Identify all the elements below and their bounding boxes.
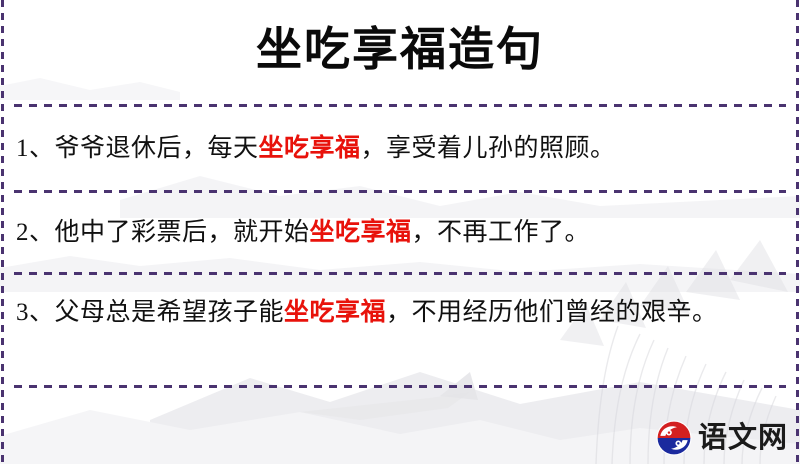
title-block: 坐吃享福造句 [0, 22, 800, 77]
sentence-3-keyword: 坐吃享福 [284, 299, 386, 326]
sentence-1-text-before: 爷爷退休后，每天 [55, 135, 259, 162]
document-page: 坐吃享福造句 1、爷爷退休后，每天坐吃享福，享受着儿孙的照顾。 2、他中了彩票后… [0, 0, 800, 464]
sentence-1-index: 1、 [16, 135, 55, 162]
sentence-row-1: 1、爷爷退休后，每天坐吃享福，享受着儿孙的照顾。 [16, 128, 780, 170]
site-logo-text: 语文网 [698, 424, 788, 453]
sentence-row-2: 2、他中了彩票后，就开始坐吃享福，不再工作了。 [16, 212, 780, 254]
site-logo[interactable]: 语文网 [656, 420, 788, 456]
page-border-left-dashed [1, 0, 4, 464]
page-border-right-dashed [796, 0, 799, 464]
separator-below-sentence-3 [14, 385, 786, 388]
separator-above-sentence-3 [14, 272, 786, 275]
sentence-2-text-after: ，不再工作了。 [412, 219, 591, 246]
separator-above-sentence-2 [14, 190, 786, 193]
sentence-3-index: 3、 [16, 299, 55, 326]
sentence-2-index: 2、 [16, 219, 55, 246]
sentence-3-text-after: ，不用经历他们曾经的艰辛。 [386, 299, 718, 326]
page-title: 坐吃享福造句 [0, 22, 800, 77]
separator-above-sentence-1 [14, 104, 786, 107]
sentence-2-keyword: 坐吃享福 [310, 219, 412, 246]
sentence-1-text-after: ，享受着儿孙的照顾。 [361, 135, 616, 162]
sentence-row-3: 3、父母总是希望孩子能坐吃享福，不用经历他们曾经的艰辛。 [16, 292, 780, 334]
sentence-2-text-before: 他中了彩票后，就开始 [55, 219, 310, 246]
sentence-1-keyword: 坐吃享福 [259, 135, 361, 162]
sentence-3-text-before: 父母总是希望孩子能 [55, 299, 285, 326]
yuwen-circular-logo-icon [656, 420, 692, 456]
